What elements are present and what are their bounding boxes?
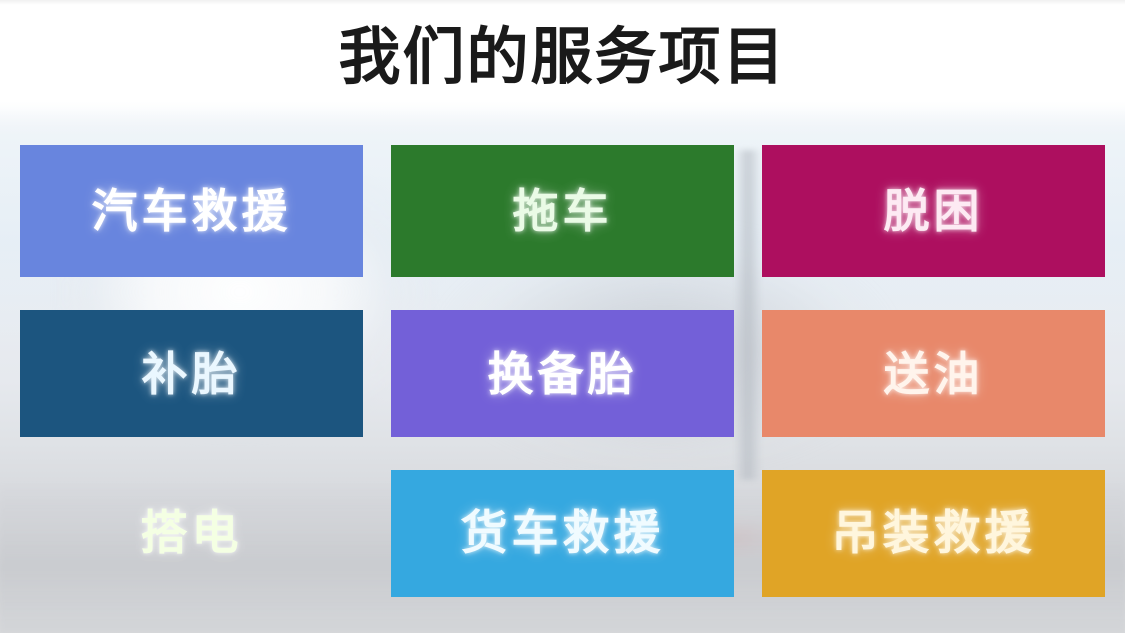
service-tile-fuel-delivery[interactable]: 送油 <box>762 310 1105 437</box>
service-tile-tow-truck[interactable]: 拖车 <box>391 145 734 277</box>
service-poster: 我们的服务项目 汽车救援 拖车 脱困 补胎 换备胎 送油 搭电 货车救援 吊装救… <box>0 0 1125 633</box>
service-tile-label: 脱困 <box>884 188 984 234</box>
service-tile-car-rescue[interactable]: 汽车救援 <box>20 145 363 277</box>
service-tile-label: 吊装救援 <box>832 510 1036 557</box>
service-tile-label: 拖车 <box>513 188 613 234</box>
service-grid: 汽车救援 拖车 脱困 补胎 换备胎 送油 搭电 货车救援 吊装救援 <box>20 145 1105 597</box>
service-tile-truck-rescue[interactable]: 货车救援 <box>391 470 734 597</box>
service-tile-jump-start[interactable]: 搭电 <box>20 470 363 597</box>
service-tile-label: 货车救援 <box>461 510 665 557</box>
service-tile-hoisting-rescue[interactable]: 吊装救援 <box>762 470 1105 597</box>
page-title: 我们的服务项目 <box>0 20 1125 94</box>
service-tile-tire-repair[interactable]: 补胎 <box>20 310 363 437</box>
service-tile-label: 搭电 <box>141 510 243 557</box>
service-tile-label: 补胎 <box>142 351 242 397</box>
service-tile-label: 汽车救援 <box>92 188 292 234</box>
service-tile-label: 送油 <box>884 351 984 397</box>
background-top-strip <box>0 0 1125 5</box>
service-tile-extrication[interactable]: 脱困 <box>762 145 1105 277</box>
service-tile-spare-tire-change[interactable]: 换备胎 <box>391 310 734 437</box>
service-tile-label: 换备胎 <box>488 351 638 397</box>
